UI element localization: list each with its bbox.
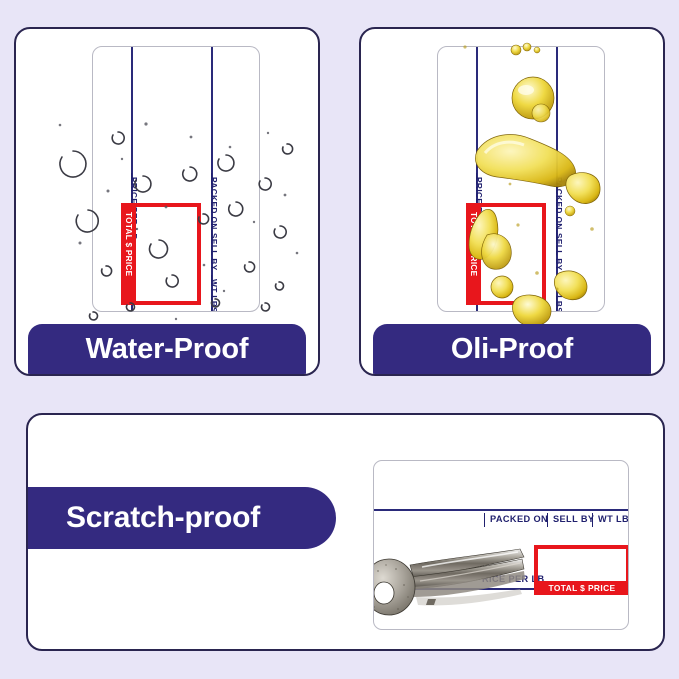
label-field-wt-lbs: WT LBS xyxy=(554,279,564,312)
label-field-sell-by: SELL BY xyxy=(209,233,219,271)
feature-grid: PRICE PER LB PACKED ON SELL BY WT LBS TO… xyxy=(0,0,679,679)
field-tick-wt xyxy=(592,513,593,527)
label-field-wt-lbs: WT LBS xyxy=(209,279,219,312)
price-label-scratch: PACKED ON SELL BY WT LBS RICE PER LB TOT… xyxy=(373,460,629,630)
label-field-wt-lbs: WT LBS xyxy=(598,514,629,524)
price-label-oil: PRICE PER LB PACKED ON SELL BY WT LBS TO… xyxy=(437,46,605,312)
feature-card-water-proof: PRICE PER LB PACKED ON SELL BY WT LBS TO… xyxy=(14,27,320,376)
total-price-tab: TOTAL $ PRICE xyxy=(534,581,629,595)
banner-scratch-proof: Scratch-proof xyxy=(26,487,336,549)
total-price-tab: TOTAL $ PRICE xyxy=(466,203,481,305)
banner-label-water-proof: Water-Proof xyxy=(86,333,249,366)
banner-water-proof: Water-Proof xyxy=(28,324,306,374)
banner-oil-proof: Oli-Proof xyxy=(373,324,651,374)
field-tick-sellby xyxy=(547,513,548,527)
label-field-packed-on: PACKED ON xyxy=(209,177,219,230)
label-field-sell-by: SELL BY xyxy=(553,514,594,524)
banner-label-oil-proof: Oli-Proof xyxy=(451,333,573,366)
label-field-sell-by: SELL BY xyxy=(554,233,564,271)
price-label-water: PRICE PER LB PACKED ON SELL BY WT LBS TO… xyxy=(92,46,260,312)
feature-card-oil-proof: PRICE PER LB PACKED ON SELL BY WT LBS TO… xyxy=(359,27,665,376)
label-field-packed-on: PACKED ON xyxy=(554,177,564,230)
label-field-total-price: TOTAL $ PRICE xyxy=(469,212,478,276)
banner-label-scratch-proof: Scratch-proof xyxy=(66,501,260,535)
total-price-tab: TOTAL $ PRICE xyxy=(121,203,136,305)
label-field-total-price: TOTAL $ PRICE xyxy=(124,212,133,276)
key-icon xyxy=(373,519,544,630)
feature-card-scratch-proof: Scratch-proof PACKED ON SELL BY WT LBS R… xyxy=(26,413,665,651)
label-divider-top xyxy=(374,509,628,511)
